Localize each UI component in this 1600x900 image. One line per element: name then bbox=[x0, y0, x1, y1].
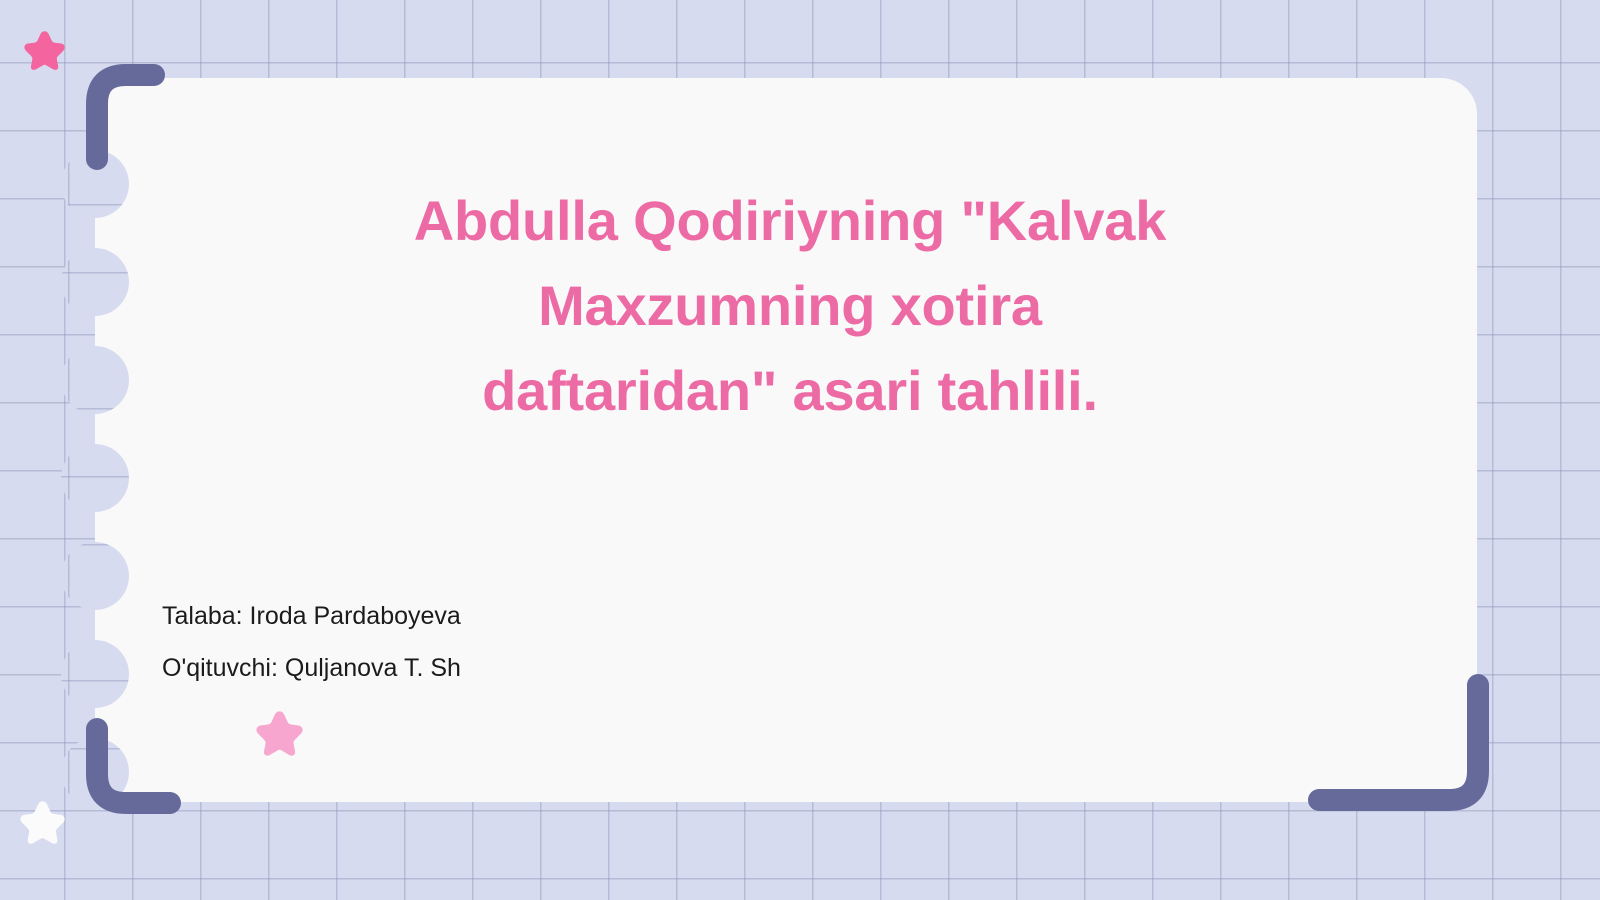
scallop-notch bbox=[61, 640, 129, 708]
star-icon bbox=[20, 800, 66, 846]
title-line-3: daftaridan" asari tahlili. bbox=[230, 348, 1350, 433]
page-title: Abdulla Qodiriyning "Kalvak Maxzumning x… bbox=[230, 178, 1350, 433]
credits-block: Talaba: Iroda Pardaboyeva O'qituvchi: Qu… bbox=[162, 604, 461, 681]
student-name-line: Talaba: Iroda Pardaboyeva bbox=[162, 604, 461, 629]
scallop-notch bbox=[61, 346, 129, 414]
title-line-2: Maxzumning xotira bbox=[230, 263, 1350, 348]
scallop-notch bbox=[61, 444, 129, 512]
scallop-notch bbox=[61, 150, 129, 218]
scallop-notch bbox=[61, 248, 129, 316]
scallop-notch bbox=[61, 738, 129, 806]
presentation-slide: Abdulla Qodiriyning "Kalvak Maxzumning x… bbox=[0, 0, 1600, 900]
teacher-name-line: O'qituvchi: Quljanova T. Sh bbox=[162, 656, 461, 681]
scallop-notch bbox=[61, 542, 129, 610]
star-icon bbox=[24, 30, 66, 72]
title-line-1: Abdulla Qodiriyning "Kalvak bbox=[230, 178, 1350, 263]
